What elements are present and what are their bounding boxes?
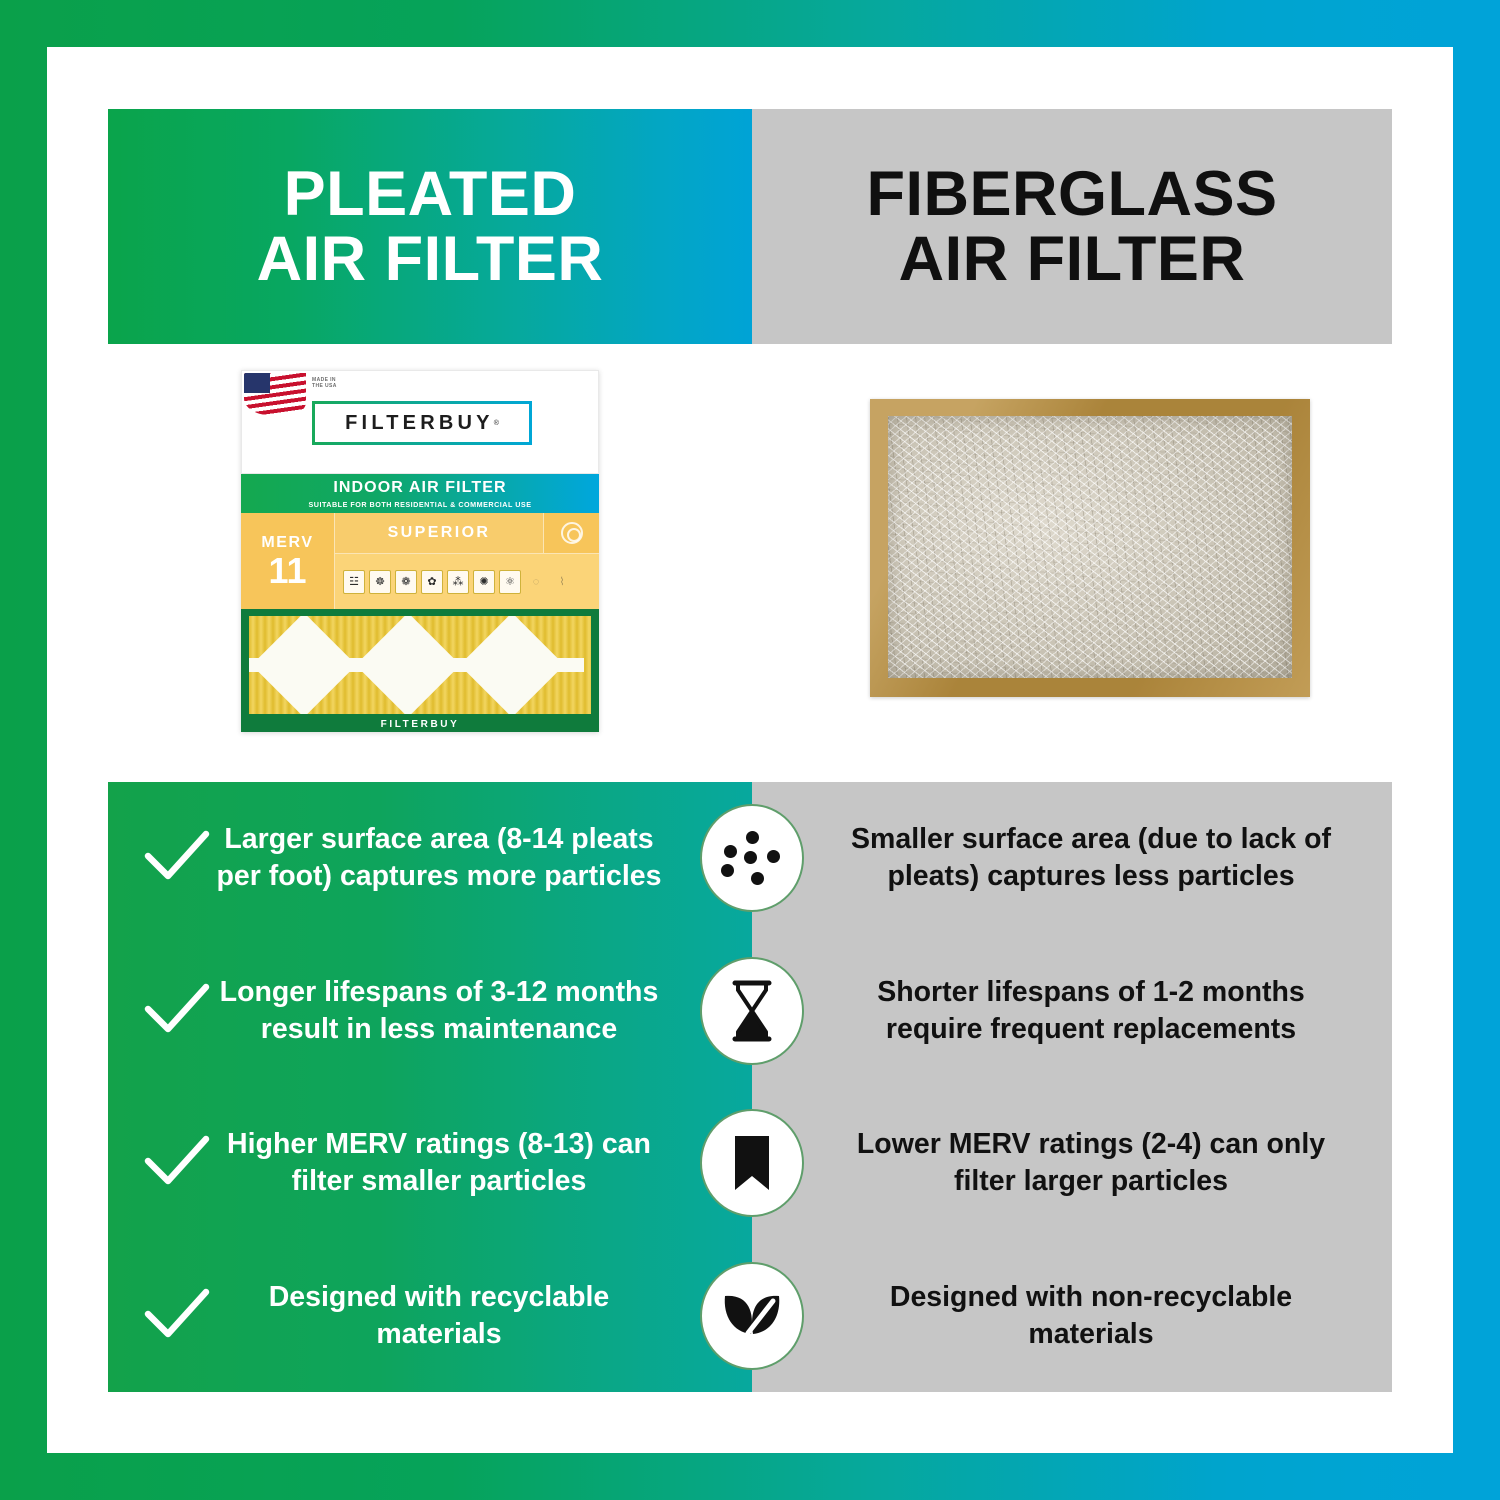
- particle-dot: [746, 831, 759, 844]
- particle-dot: [721, 864, 734, 877]
- fiberglass-filter-product-image: [870, 399, 1310, 697]
- usa-flag-icon: [244, 373, 306, 415]
- particles-dots: [719, 828, 785, 888]
- support-strut: [450, 658, 480, 672]
- pleated-media: [249, 616, 591, 714]
- row-pleated-cell: Longer lifespans of 3-12 months result i…: [108, 935, 752, 1088]
- header-fiberglass-line1: FIBERGLASS: [866, 159, 1277, 229]
- row-pleated-text: Higher MERV ratings (8-13) can filter sm…: [216, 1126, 718, 1200]
- package-header: MADE IN THE USA FILTERBUY®: [241, 370, 599, 474]
- header-pleated-line2: AIR FILTER: [257, 224, 604, 294]
- ul-listed-icon: [561, 522, 583, 544]
- filterbuy-logo-text: FILTERBUY: [345, 412, 494, 435]
- checkmark-icon: [142, 830, 212, 886]
- package-product-band: INDOOR AIR FILTER SUITABLE FOR BOTH RESI…: [241, 474, 599, 513]
- package-grade-section: SUPERIOR ☳ ☸ ❁ ✿ ⁂ ✺ ⚛: [335, 513, 599, 609]
- checkmark-icon: [142, 1135, 212, 1191]
- mold-spores-icon: ✿: [421, 570, 443, 594]
- grade-row: SUPERIOR: [335, 513, 599, 554]
- package-footer-brand: FILTERBUY: [241, 719, 599, 730]
- comparison-row: Designed with recyclable materials Desig…: [108, 1240, 1392, 1393]
- header-fiberglass-line2: AIR FILTER: [899, 224, 1246, 294]
- bookmark-icon: [700, 1109, 804, 1217]
- dust-mite-icon: ☸: [369, 570, 391, 594]
- filterbuy-logo: FILTERBUY®: [312, 401, 532, 445]
- bacteria-icon: ⁂: [447, 570, 469, 594]
- made-in-usa-label: MADE IN THE USA: [312, 377, 337, 390]
- pleated-filter-package: MADE IN THE USA FILTERBUY® INDOOR AIR FI…: [241, 370, 599, 732]
- pollen-icon: ❁: [395, 570, 417, 594]
- infographic-frame: PLEATED AIR FILTER FIBERGLASS AIR FILTER…: [0, 0, 1500, 1500]
- comparison-table: Larger surface area (8-14 pleats per foo…: [108, 782, 1392, 1392]
- merv-value: 11: [268, 554, 306, 588]
- package-band-title: INDOOR AIR FILTER: [333, 479, 506, 497]
- row-pleated-text: Designed with recyclable materials: [216, 1279, 718, 1353]
- header-pleated: PLEATED AIR FILTER: [108, 109, 752, 344]
- pleated-media-frame: FILTERBUY: [241, 609, 599, 732]
- package-merv-strip: MERV 11 SUPERIOR ☳ ☸ ❁: [241, 513, 599, 609]
- particles-icon: [700, 804, 804, 912]
- particle-dot: [744, 851, 757, 864]
- comparison-row: Larger surface area (8-14 pleats per foo…: [108, 782, 1392, 935]
- smoke-icon: ⚛: [499, 570, 521, 594]
- particle-dot: [724, 845, 737, 858]
- comparison-row: Longer lifespans of 3-12 months result i…: [108, 935, 1392, 1088]
- merv-rating-cell: MERV 11: [241, 513, 335, 609]
- row-fiberglass-text: Designed with non-recyclable materials: [830, 1279, 1352, 1353]
- hourglass-icon: [700, 957, 804, 1065]
- header-fiberglass-title: FIBERGLASS AIR FILTER: [866, 162, 1277, 291]
- registered-mark: ®: [494, 420, 499, 427]
- dust-lint-icon: ☳: [343, 570, 365, 594]
- particle-dot: [767, 850, 780, 863]
- row-fiberglass-text: Smaller surface area (due to lack of ple…: [830, 821, 1352, 895]
- header-fiberglass: FIBERGLASS AIR FILTER: [752, 109, 1392, 344]
- checkmark-icon: [142, 983, 212, 1039]
- leaf-sprout-icon: [700, 1262, 804, 1370]
- row-fiberglass-cell: Smaller surface area (due to lack of ple…: [752, 782, 1392, 935]
- product-image-zone: MADE IN THE USA FILTERBUY® INDOOR AIR FI…: [108, 344, 1392, 782]
- comparison-row: Higher MERV ratings (8-13) can filter sm…: [108, 1087, 1392, 1240]
- virus-icon: ◌: [525, 570, 547, 594]
- row-fiberglass-cell: Designed with non-recyclable materials: [752, 1240, 1392, 1393]
- particle-dot: [751, 872, 764, 885]
- fiberglass-mesh: [888, 416, 1292, 678]
- header-pleated-title: PLEATED AIR FILTER: [257, 162, 604, 291]
- support-strut: [249, 658, 271, 672]
- row-pleated-text: Longer lifespans of 3-12 months result i…: [216, 974, 718, 1048]
- header-band: PLEATED AIR FILTER FIBERGLASS AIR FILTER: [108, 109, 1392, 344]
- header-pleated-line1: PLEATED: [284, 159, 577, 229]
- row-pleated-cell: Higher MERV ratings (8-13) can filter sm…: [108, 1087, 752, 1240]
- odor-icon: ⌇: [551, 570, 573, 594]
- row-fiberglass-text: Shorter lifespans of 1-2 months require …: [830, 974, 1352, 1048]
- row-pleated-cell: Larger surface area (8-14 pleats per foo…: [108, 782, 752, 935]
- support-strut: [346, 658, 376, 672]
- support-strut: [554, 658, 584, 672]
- checkmark-icon: [142, 1288, 212, 1344]
- row-fiberglass-cell: Lower MERV ratings (2-4) can only filter…: [752, 1087, 1392, 1240]
- ul-certification-cell: [543, 513, 599, 553]
- row-fiberglass-cell: Shorter lifespans of 1-2 months require …: [752, 935, 1392, 1088]
- grade-label: SUPERIOR: [335, 513, 543, 553]
- pleated-filter-product-image: MADE IN THE USA FILTERBUY® INDOOR AIR FI…: [241, 370, 599, 732]
- row-pleated-text: Larger surface area (8-14 pleats per foo…: [216, 821, 718, 895]
- package-band-subtitle: SUITABLE FOR BOTH RESIDENTIAL & COMMERCI…: [308, 500, 531, 509]
- pet-dander-icon: ✺: [473, 570, 495, 594]
- made-in-line2: THE USA: [312, 383, 337, 389]
- row-pleated-cell: Designed with recyclable materials: [108, 1240, 752, 1393]
- capability-icon-row: ☳ ☸ ❁ ✿ ⁂ ✺ ⚛ ◌ ⌇: [335, 554, 599, 609]
- row-fiberglass-text: Lower MERV ratings (2-4) can only filter…: [830, 1126, 1352, 1200]
